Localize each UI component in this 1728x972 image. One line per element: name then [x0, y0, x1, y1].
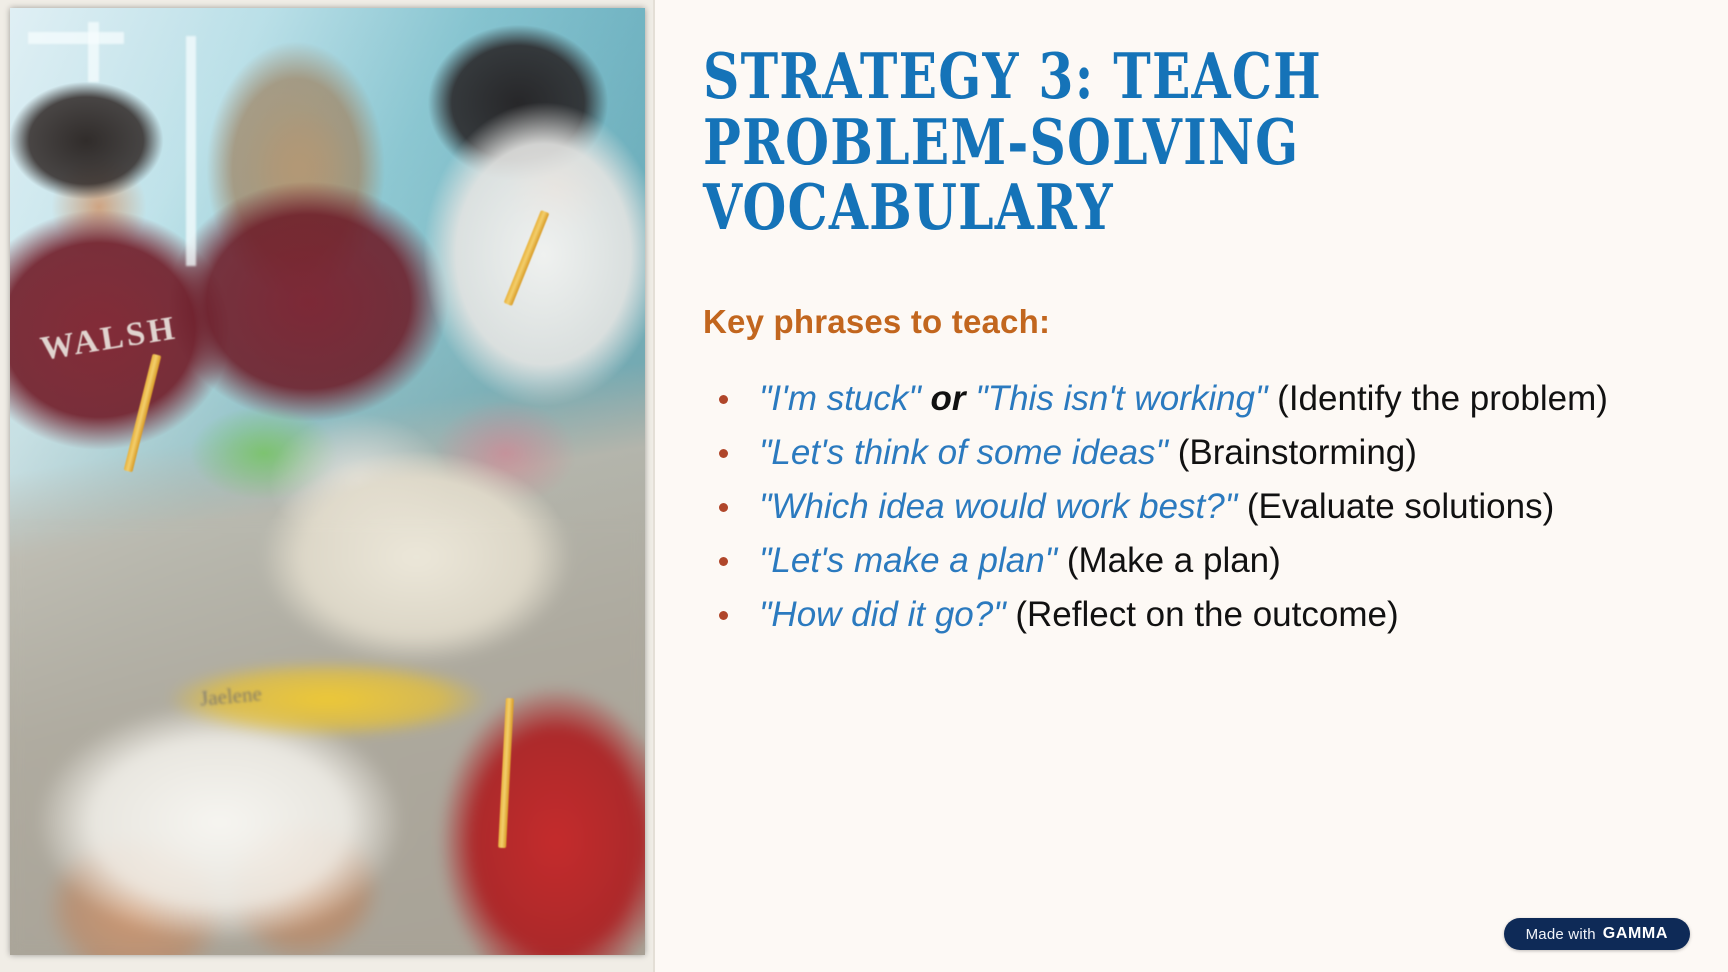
phrase-connector: or [921, 379, 975, 418]
badge-made-with-label: Made with [1526, 926, 1596, 943]
badge-brand-label: GAMMA [1603, 925, 1668, 943]
content-panel: Strategy 3: Teach Problem-Solving Vocabu… [655, 0, 1728, 972]
phrase-quote: "Which idea would work best?" [759, 487, 1237, 526]
window-mullion-icon [88, 22, 99, 82]
list-item: "I'm stuck" or "This isn't working" (Ide… [703, 377, 1658, 421]
phrase-note: (Identify the problem) [1267, 379, 1607, 418]
bullet-dot-icon [719, 449, 728, 458]
window-mullion-icon [186, 36, 196, 266]
phrase-note: (Brainstorming) [1168, 433, 1417, 472]
bullet-dot-icon [719, 503, 728, 512]
classroom-photo: WALSH Jaelene [10, 8, 645, 955]
phrase-note: (Make a plan) [1057, 541, 1281, 580]
bullet-dot-icon [719, 611, 728, 620]
page-title: Strategy 3: Teach Problem-Solving Vocabu… [703, 44, 1467, 241]
made-with-gamma-badge[interactable]: Made with GAMMA [1504, 918, 1690, 950]
photo-panel: WALSH Jaelene [0, 0, 655, 972]
phrase-list: "I'm stuck" or "This isn't working" (Ide… [703, 377, 1658, 637]
list-item: "How did it go?" (Reflect on the outcome… [703, 593, 1658, 637]
list-item: "Let's make a plan" (Make a plan) [703, 539, 1658, 583]
phrase-quote: "I'm stuck" [759, 379, 921, 418]
phrase-note: (Evaluate solutions) [1237, 487, 1554, 526]
window-mullion-icon [28, 32, 124, 44]
list-item: "Let's think of some ideas" (Brainstormi… [703, 431, 1658, 475]
slide: WALSH Jaelene Strategy 3: Teach Problem-… [0, 0, 1728, 972]
phrase-note: (Reflect on the outcome) [1006, 595, 1399, 634]
bullet-dot-icon [719, 395, 728, 404]
bullet-dot-icon [719, 557, 728, 566]
phrase-quote-alt: "This isn't working" [975, 379, 1267, 418]
classroom-photo-image [10, 8, 645, 955]
phrase-quote: "Let's make a plan" [759, 541, 1057, 580]
list-item: "Which idea would work best?" (Evaluate … [703, 485, 1658, 529]
section-label: Key phrases to teach: [703, 303, 1658, 341]
phrase-quote: "Let's think of some ideas" [759, 433, 1168, 472]
phrase-quote: "How did it go?" [759, 595, 1006, 634]
name-strip-text: Jaelene [199, 681, 263, 711]
